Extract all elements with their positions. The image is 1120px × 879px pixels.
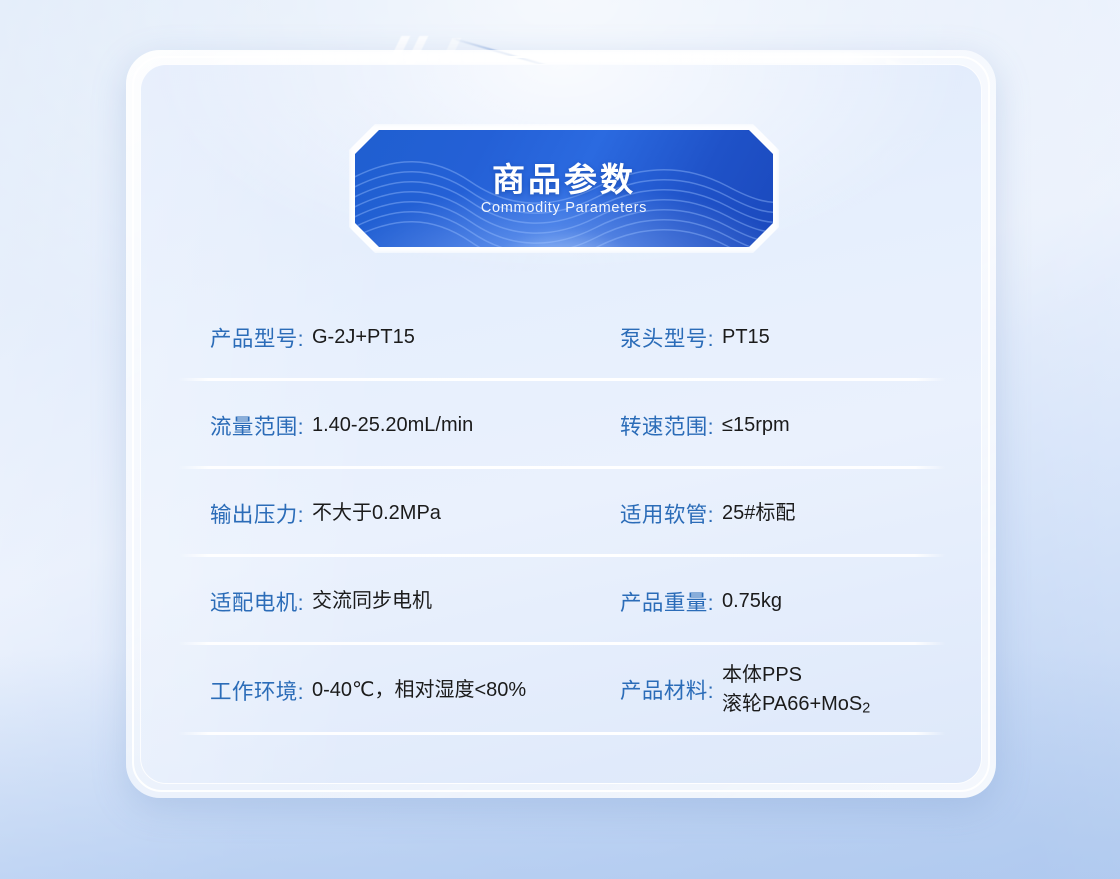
parameter-cell-applicable-tubing: 适用软管: 25#标配	[594, 498, 948, 529]
parameter-value-subscript: 2	[862, 700, 870, 716]
parameter-label: 流量范围:	[176, 410, 304, 441]
parameter-label: 工作环境:	[176, 675, 304, 706]
parameter-cell-pump-head-model: 泵头型号: PT15	[594, 322, 948, 353]
table-row: 流量范围: 1.40-25.20mL/min 转速范围: ≤15rpm	[176, 381, 948, 469]
parameter-cell-output-pressure: 输出压力: 不大于0.2MPa	[176, 498, 594, 529]
table-row: 适配电机: 交流同步电机 产品重量: 0.75kg	[176, 557, 948, 645]
parameter-label: 转速范围:	[594, 410, 714, 441]
parameter-label: 适配电机:	[176, 586, 304, 617]
parameter-table: 产品型号: G-2J+PT15 泵头型号: PT15 流量范围: 1.40-25…	[176, 293, 948, 735]
parameter-value: G-2J+PT15	[312, 323, 415, 351]
parameter-value: PT15	[722, 323, 770, 351]
parameter-value: 交流同步电机	[312, 587, 432, 615]
parameter-label: 输出压力:	[176, 498, 304, 529]
parameter-value: 0.75kg	[722, 587, 782, 615]
parameter-label: 产品重量:	[594, 586, 714, 617]
parameter-label: 适用软管:	[594, 498, 714, 529]
parameter-cell-matched-motor: 适配电机: 交流同步电机	[176, 586, 594, 617]
parameter-value: 不大于0.2MPa	[312, 499, 441, 527]
parameter-cell-product-weight: 产品重量: 0.75kg	[594, 586, 948, 617]
parameter-value-line-1: 本体PPS	[722, 661, 870, 689]
parameter-value-line-2: 滚轮PA66+MoS2	[722, 690, 870, 719]
parameter-value: 本体PPS 滚轮PA66+MoS2	[722, 661, 870, 718]
section-title-banner: 商品参数 Commodity Parameters	[355, 130, 773, 247]
parameter-cell-working-environment: 工作环境: 0-40℃，相对湿度<80%	[176, 675, 594, 706]
page-root: 商品参数 Commodity Parameters 产品型号: G-2J+PT1…	[0, 0, 1120, 879]
parameter-value: ≤15rpm	[722, 411, 790, 439]
parameter-cell-flow-range: 流量范围: 1.40-25.20mL/min	[176, 410, 594, 441]
table-row: 工作环境: 0-40℃，相对湿度<80% 产品材料: 本体PPS 滚轮PA66+…	[176, 645, 948, 735]
parameter-value: 1.40-25.20mL/min	[312, 411, 473, 439]
banner-subtitle: Commodity Parameters	[481, 200, 647, 216]
banner-title: 商品参数	[492, 161, 636, 199]
table-row: 输出压力: 不大于0.2MPa 适用软管: 25#标配	[176, 469, 948, 557]
parameter-label: 产品材料:	[594, 674, 714, 705]
parameter-label: 泵头型号:	[594, 322, 714, 353]
parameter-value: 25#标配	[722, 499, 795, 527]
parameter-cell-product-model: 产品型号: G-2J+PT15	[176, 322, 594, 353]
banner-body: 商品参数 Commodity Parameters	[355, 130, 773, 247]
parameter-value: 0-40℃，相对湿度<80%	[312, 676, 526, 704]
table-row: 产品型号: G-2J+PT15 泵头型号: PT15	[176, 293, 948, 381]
parameter-cell-speed-range: 转速范围: ≤15rpm	[594, 410, 948, 441]
parameter-value-line-2-text: 滚轮PA66+MoS	[722, 693, 862, 715]
parameter-cell-product-material: 产品材料: 本体PPS 滚轮PA66+MoS2	[594, 661, 948, 718]
parameter-label: 产品型号:	[176, 322, 304, 353]
row-divider	[178, 732, 946, 735]
